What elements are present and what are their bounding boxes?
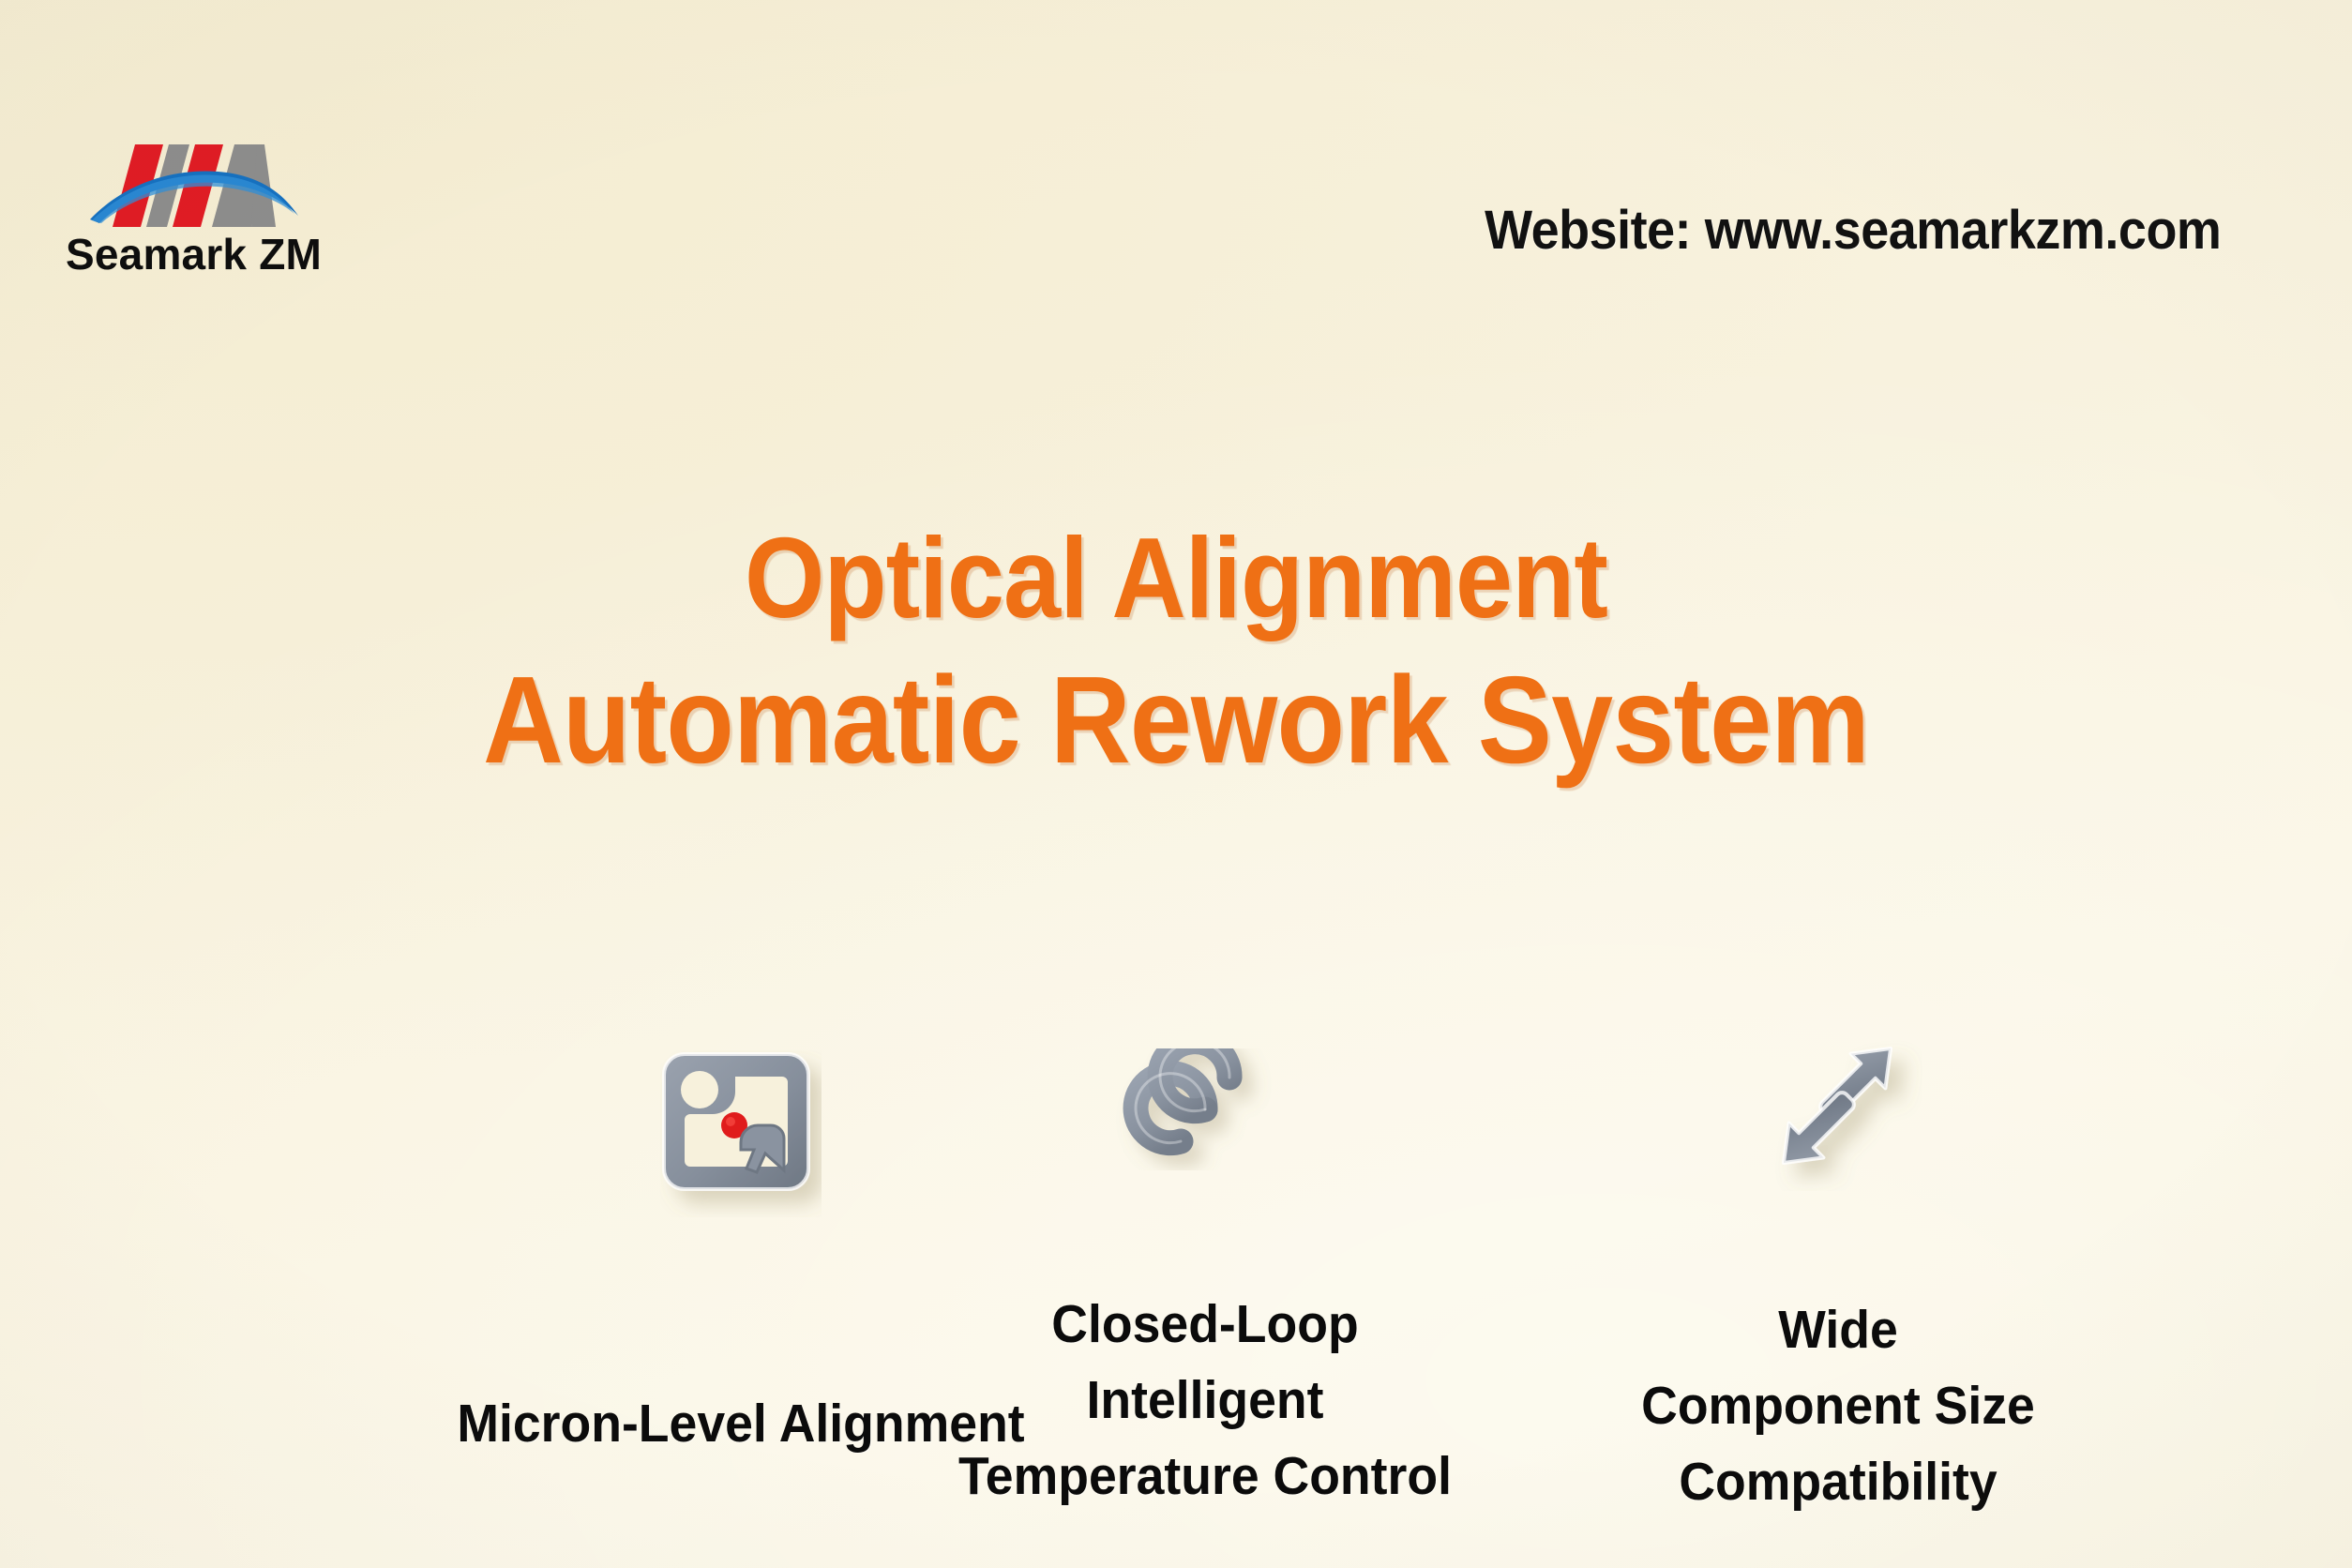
feature-caption-micron-level-alignment: Micron-Level Alignment	[457, 1386, 1024, 1462]
caption-line: Temperature Control	[958, 1439, 1452, 1515]
caption-line: Micron-Level Alignment	[457, 1386, 1024, 1462]
caption-line: Component Size	[1641, 1368, 2035, 1444]
website-label: Website: www.seamarkzm.com	[1485, 199, 2221, 262]
caption-line: Compatibility	[1641, 1444, 2035, 1520]
brand-logo: Seamark ZM	[66, 129, 319, 298]
title-line-1: Optical Alignment	[117, 514, 2234, 642]
title-line-2: Automatic Rework System	[117, 652, 2234, 788]
alignment-target-frame-icon	[660, 1050, 822, 1217]
seamark-zm-logo-icon	[86, 129, 302, 231]
diagonal-resize-arrows-icon	[1754, 1022, 1922, 1191]
feature-caption-closed-loop-temperature-control: Closed-Loop Intelligent Temperature Cont…	[958, 1287, 1452, 1515]
page-title: Optical Alignment Automatic Rework Syste…	[0, 514, 2352, 788]
feature-caption-wide-component-size-compatibility: Wide Component Size Compatibility	[1641, 1292, 2035, 1520]
caption-line: Closed-Loop	[958, 1287, 1452, 1363]
caption-line: Wide	[1641, 1292, 2035, 1368]
caption-line: Intelligent	[958, 1363, 1452, 1439]
brand-wordmark: Seamark ZM	[66, 229, 319, 279]
feature-list: Micron-Level Alignment	[0, 1022, 2352, 1529]
closed-loop-infinity-icon	[1116, 1048, 1294, 1170]
slide-canvas: Seamark ZM Website: www.seamarkzm.com Op…	[0, 0, 2352, 1568]
